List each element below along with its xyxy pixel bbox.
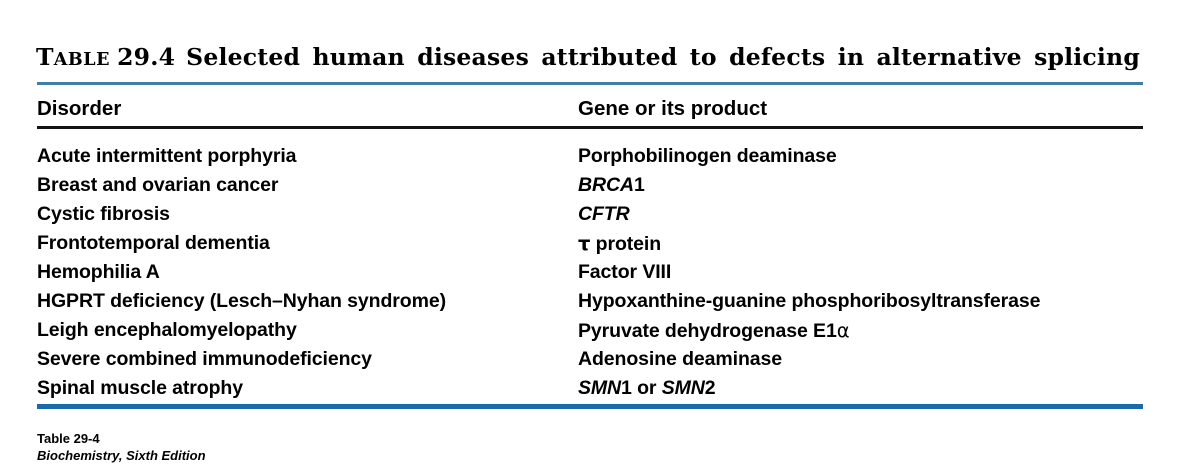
table-figure: TABLE29.4Selected human diseases attribu… xyxy=(0,0,1184,470)
table-row: Leigh encephalomyelopathy Pyruvate dehyd… xyxy=(0,316,1184,345)
cell-gene: Adenosine deaminase xyxy=(578,345,782,374)
cell-gene: BRCA1 xyxy=(578,171,645,200)
cell-disorder: Spinal muscle atrophy xyxy=(37,374,243,403)
gene-plain: Porphobilinogen deaminase xyxy=(578,145,837,167)
cell-gene: SMN1 or SMN2 xyxy=(578,374,716,403)
table-title-text: Selected human diseases attributed to de… xyxy=(186,43,1140,71)
table-title: TABLE29.4Selected human diseases attribu… xyxy=(36,42,1146,75)
rule-header-separator xyxy=(37,126,1143,129)
column-header-disorder: Disorder xyxy=(37,94,121,123)
cell-gene: Hypoxanthine-guanine phosphoribosyltrans… xyxy=(578,287,1040,316)
cell-gene: Pyruvate dehydrogenase E1α xyxy=(578,316,849,346)
cell-disorder: Frontotemporal dementia xyxy=(37,229,270,258)
table-header-row: Disorder Gene or its product xyxy=(0,94,1184,123)
table-row: Cystic fibrosis CFTR xyxy=(0,200,1184,229)
cell-disorder: Hemophilia A xyxy=(37,258,160,287)
gene-suffix: 1 xyxy=(634,174,645,196)
gene-joiner: or xyxy=(632,377,662,399)
cell-gene: Factor VIII xyxy=(578,258,671,287)
cell-disorder: Leigh encephalomyelopathy xyxy=(37,316,297,345)
gene-symbol: CFTR xyxy=(578,203,630,225)
cell-gene: CFTR xyxy=(578,200,630,229)
table-row: Frontotemporal dementia τ protein xyxy=(0,229,1184,258)
cell-disorder: Acute intermittent porphyria xyxy=(37,142,296,171)
cell-gene: τ protein xyxy=(578,229,661,259)
rule-bottom xyxy=(37,404,1143,409)
cell-gene: Porphobilinogen deaminase xyxy=(578,142,837,171)
gene-plain: protein xyxy=(590,233,661,255)
table-row: Breast and ovarian cancer BRCA1 xyxy=(0,171,1184,200)
cell-disorder: Severe combined immunodeficiency xyxy=(37,345,372,374)
cell-disorder: Breast and ovarian cancer xyxy=(37,171,278,200)
column-header-gene: Gene or its product xyxy=(578,94,767,123)
caption-source: Biochemistry, Sixth Edition xyxy=(37,447,206,464)
table-row: Spinal muscle atrophy SMN1 or SMN2 xyxy=(0,374,1184,403)
gene-symbol: BRCA xyxy=(578,174,634,196)
cell-disorder: Cystic fibrosis xyxy=(37,200,170,229)
table-title-label-rest: ABLE xyxy=(54,50,110,70)
gene-plain: Hypoxanthine-guanine phosphoribosyltrans… xyxy=(578,290,1040,312)
table-row: Hemophilia A Factor VIII xyxy=(0,258,1184,287)
cell-disorder: HGPRT deficiency (Lesch–Nyhan syndrome) xyxy=(37,287,446,316)
rule-top xyxy=(37,82,1143,85)
table-row: Acute intermittent porphyria Porphobilin… xyxy=(0,142,1184,171)
gene-symbol-2: SMN xyxy=(662,377,705,399)
gene-suffix: 1 xyxy=(621,377,632,399)
table-row: Severe combined immunodeficiency Adenosi… xyxy=(0,345,1184,374)
greek-tau-glyph: τ xyxy=(578,232,590,255)
caption-table-number: Table 29-4 xyxy=(37,430,206,447)
greek-alpha-glyph: α xyxy=(837,319,850,342)
table-title-number: 29.4 xyxy=(117,43,175,71)
table-title-label-first: T xyxy=(36,43,54,71)
table-row: HGPRT deficiency (Lesch–Nyhan syndrome) … xyxy=(0,287,1184,316)
gene-plain: Factor VIII xyxy=(578,261,671,283)
gene-suffix-2: 2 xyxy=(705,377,716,399)
gene-plain: Pyruvate dehydrogenase E1 xyxy=(578,320,837,342)
gene-symbol: SMN xyxy=(578,377,621,399)
table-title-label: TABLE xyxy=(36,43,110,71)
figure-caption: Table 29-4 Biochemistry, Sixth Edition xyxy=(37,430,206,464)
gene-plain: Adenosine deaminase xyxy=(578,348,782,370)
